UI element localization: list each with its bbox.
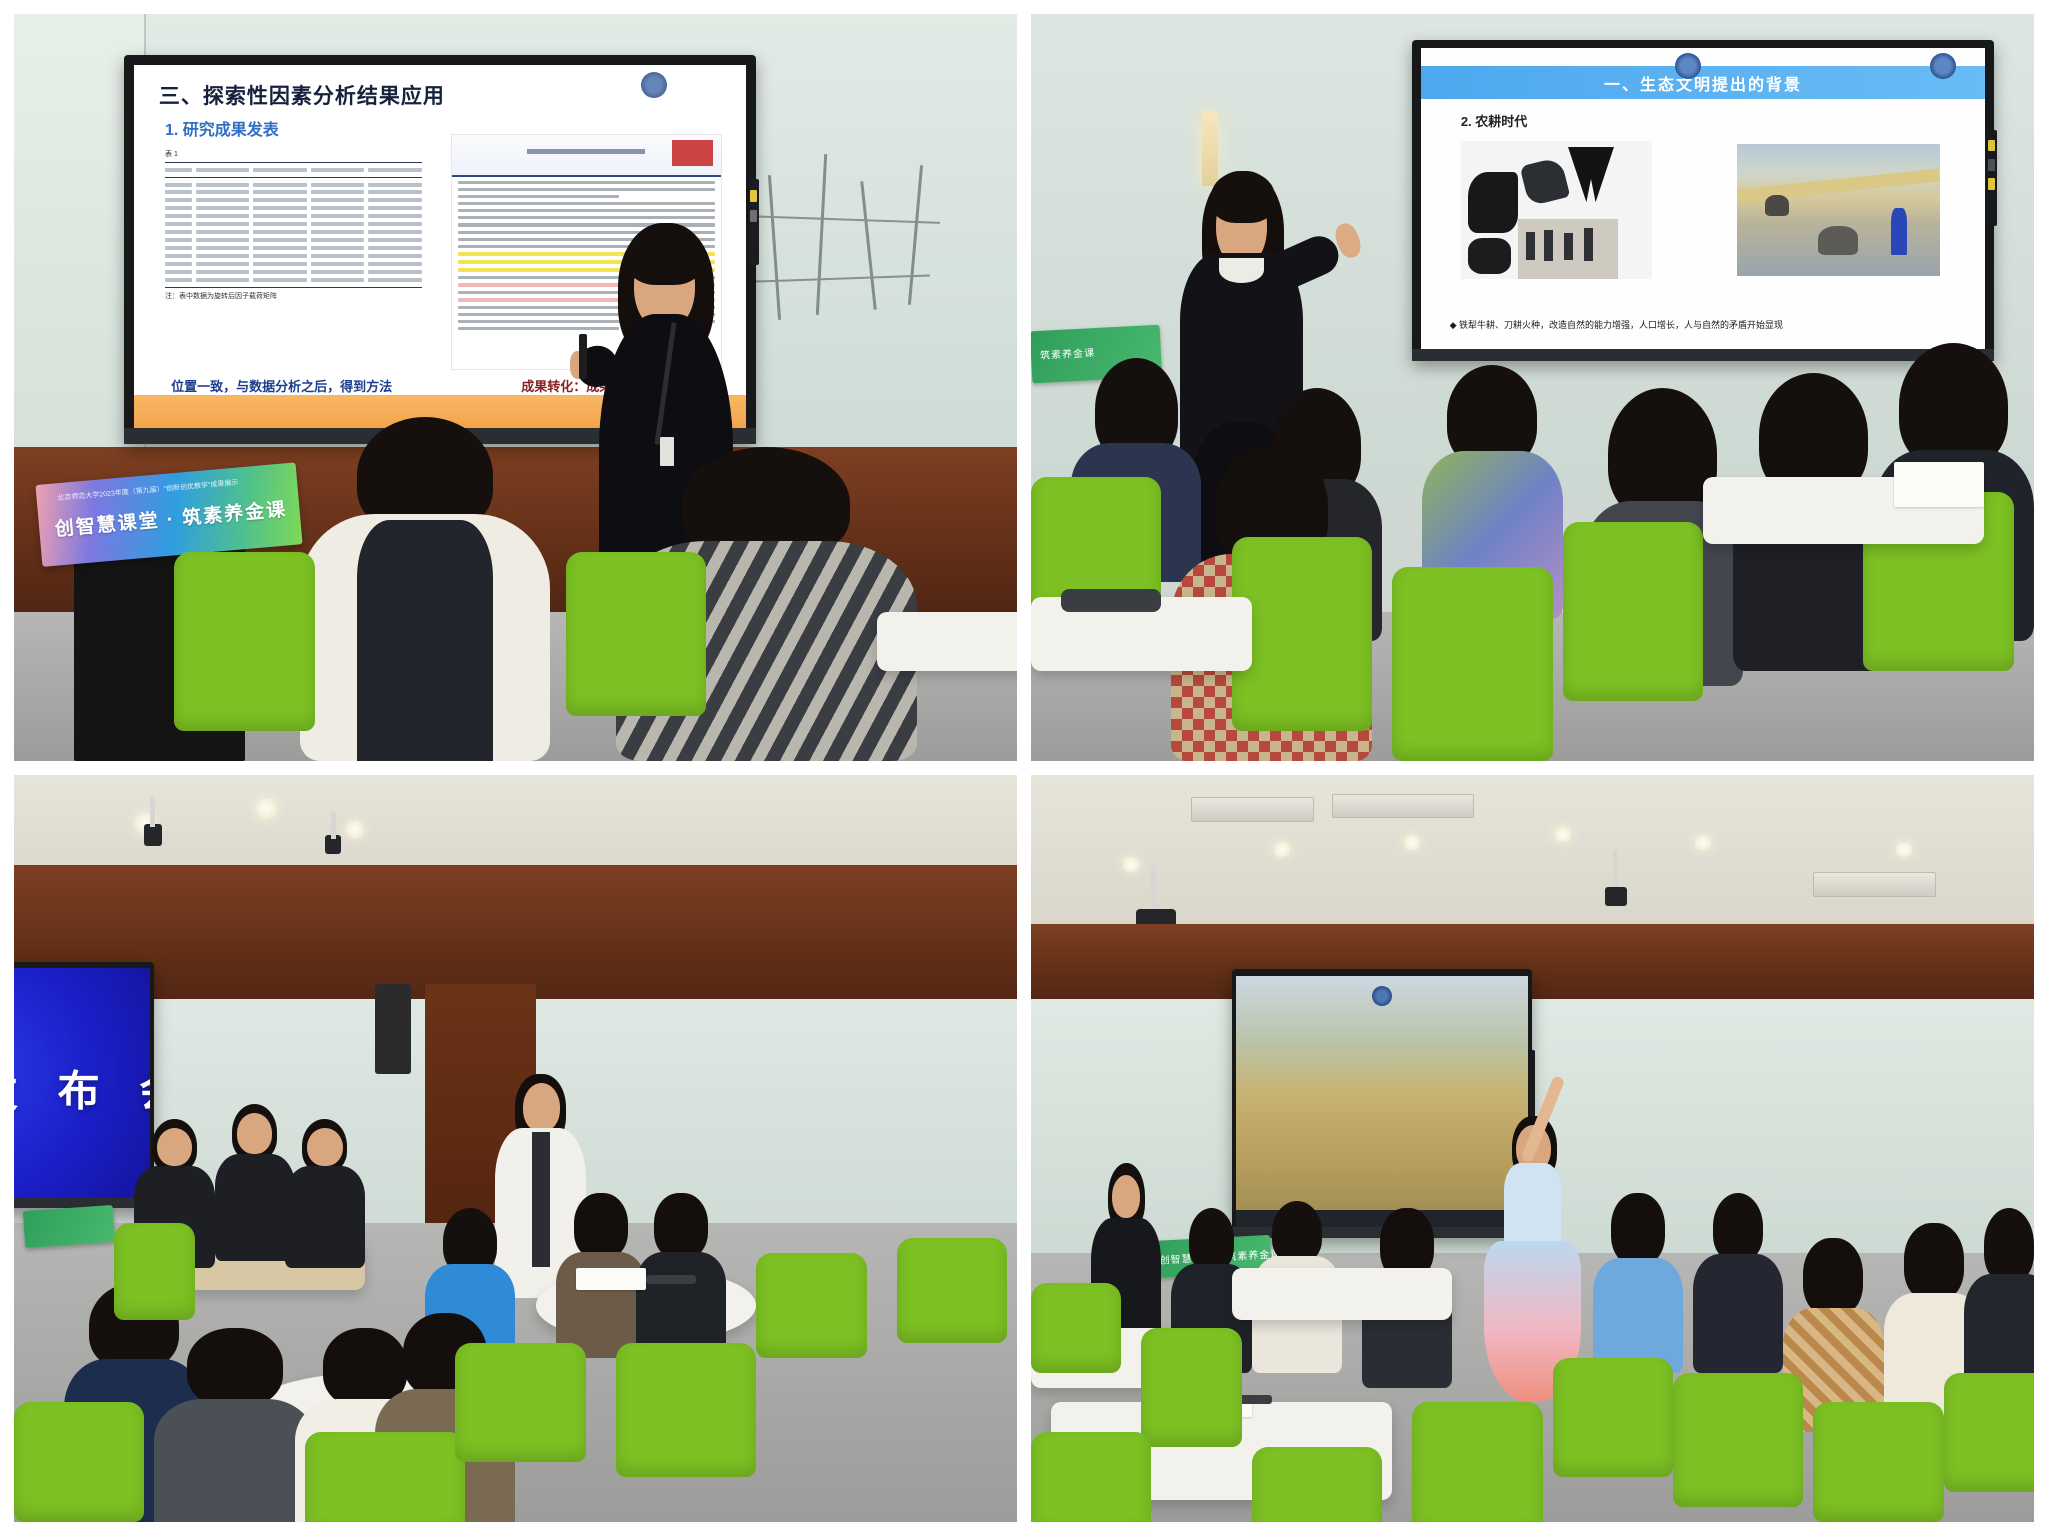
- chair[interactable]: [1944, 1373, 2034, 1493]
- microphone[interactable]: [1061, 589, 1161, 611]
- student-foreground: [154, 1328, 314, 1522]
- chair[interactable]: [1031, 1432, 1151, 1522]
- chair[interactable]: [14, 1402, 144, 1522]
- student-table: [1232, 1268, 1453, 1320]
- chair[interactable]: [1252, 1447, 1382, 1522]
- desk-sign-line-2: 创智慧课堂 · 筑素养金课: [54, 494, 288, 541]
- panel-lecture-factor-analysis: 三、探索性因素分析结果应用 1. 研究成果发表 表 1: [14, 14, 1017, 761]
- ceiling-downlight: [345, 820, 365, 839]
- display-screen[interactable]: 一、生态文明提出的背景 2. 农耕时代: [1421, 48, 1984, 348]
- wall-desk-sign: [23, 1205, 116, 1249]
- chair[interactable]: [174, 552, 314, 731]
- presentation-screen[interactable]: 新 闻 发 布 会: [14, 962, 154, 1209]
- student-foreground-left: [295, 417, 556, 761]
- chair[interactable]: [616, 1343, 756, 1477]
- chair[interactable]: [566, 552, 706, 716]
- table-caption: 表 1: [165, 149, 422, 159]
- ceiling: [1031, 775, 2034, 939]
- student: [1693, 1193, 1783, 1372]
- chair[interactable]: [1141, 1328, 1241, 1448]
- screen-title: 新 闻 发 布 会: [14, 1057, 150, 1118]
- wall-speaker: [375, 984, 411, 1074]
- camera-pole: [150, 797, 155, 827]
- panelist: [285, 1119, 365, 1268]
- chair[interactable]: [1553, 1358, 1673, 1478]
- slide-heading: 2. 农耕时代: [1461, 111, 1527, 130]
- slide-data-table: 表 1: [165, 149, 422, 370]
- university-logo-icon: [641, 72, 667, 98]
- student-table: [877, 612, 1017, 672]
- camera-pole: [331, 812, 336, 839]
- chair[interactable]: [1412, 1402, 1542, 1522]
- screen-surface[interactable]: 新 闻 发 布 会: [14, 968, 150, 1198]
- presenter-clicker: [579, 334, 587, 379]
- panel-lecture-ecological-civilization: 一、生态文明提出的背景 2. 农耕时代: [1031, 14, 2034, 761]
- ceiling-camera-icon: [1605, 887, 1627, 906]
- display-side-controls[interactable]: [1987, 130, 1997, 226]
- chair[interactable]: [1813, 1402, 1943, 1522]
- chair[interactable]: [1392, 567, 1552, 761]
- chair[interactable]: [1232, 537, 1372, 731]
- slide-subtitle: 1. 研究成果发表: [165, 116, 279, 140]
- ac-unit: [1813, 872, 1935, 896]
- whiteboard-side-controls[interactable]: [749, 179, 759, 264]
- chair[interactable]: [1563, 522, 1703, 701]
- slide-title: 一、生态文明提出的背景: [1421, 66, 1984, 99]
- ceiling-downlight: [1693, 835, 1713, 850]
- table-note: 注：表中数据为旋转后因子载荷矩阵: [165, 291, 422, 301]
- ac-unit: [1191, 797, 1313, 821]
- slide-image-herding: [1737, 144, 1940, 276]
- panelist: [215, 1104, 295, 1261]
- paper-sheet: [1894, 462, 1984, 507]
- ceiling-downlight: [1402, 835, 1422, 850]
- slide-title: 三、探索性因素分析结果应用: [159, 80, 445, 110]
- photo-collage: 三、探索性因素分析结果应用 1. 研究成果发表 表 1: [0, 0, 2048, 1536]
- panel-press-conference-roleplay: 新 闻 发 布 会: [14, 775, 1017, 1522]
- chair[interactable]: [305, 1432, 465, 1522]
- school-emblem-icon: [1675, 53, 1701, 79]
- chair[interactable]: [455, 1343, 585, 1463]
- slide-bullet: ◆ 铁犁牛耕、刀耕火种，改造自然的能力增强，人口增长，人与自然的矛盾开始显现: [1450, 318, 1957, 331]
- ceiling-downlight: [255, 797, 277, 819]
- slide-image-artifacts: [1461, 141, 1652, 279]
- ceiling-downlight: [1894, 842, 1914, 857]
- paper-sheet: [576, 1268, 646, 1290]
- panel-dance-performance: 创智慧课堂 · 筑素养金课: [1031, 775, 2034, 1522]
- ceiling-downlight: [1272, 842, 1292, 857]
- chair[interactable]: [1673, 1373, 1803, 1507]
- university-logo-icon: [1372, 986, 1392, 1006]
- chair[interactable]: [1031, 1283, 1121, 1373]
- slide-footer-left: 位置一致，与数据分析之后，得到方法: [171, 376, 392, 395]
- classroom-display[interactable]: 一、生态文明提出的背景 2. 农耕时代: [1412, 40, 1994, 361]
- student: [1593, 1193, 1683, 1372]
- chair[interactable]: [756, 1253, 866, 1358]
- stationery: [646, 1275, 696, 1284]
- ceiling-downlight: [1553, 827, 1573, 842]
- ac-unit: [1332, 794, 1474, 818]
- chair[interactable]: [114, 1223, 194, 1320]
- chair[interactable]: [897, 1238, 1007, 1343]
